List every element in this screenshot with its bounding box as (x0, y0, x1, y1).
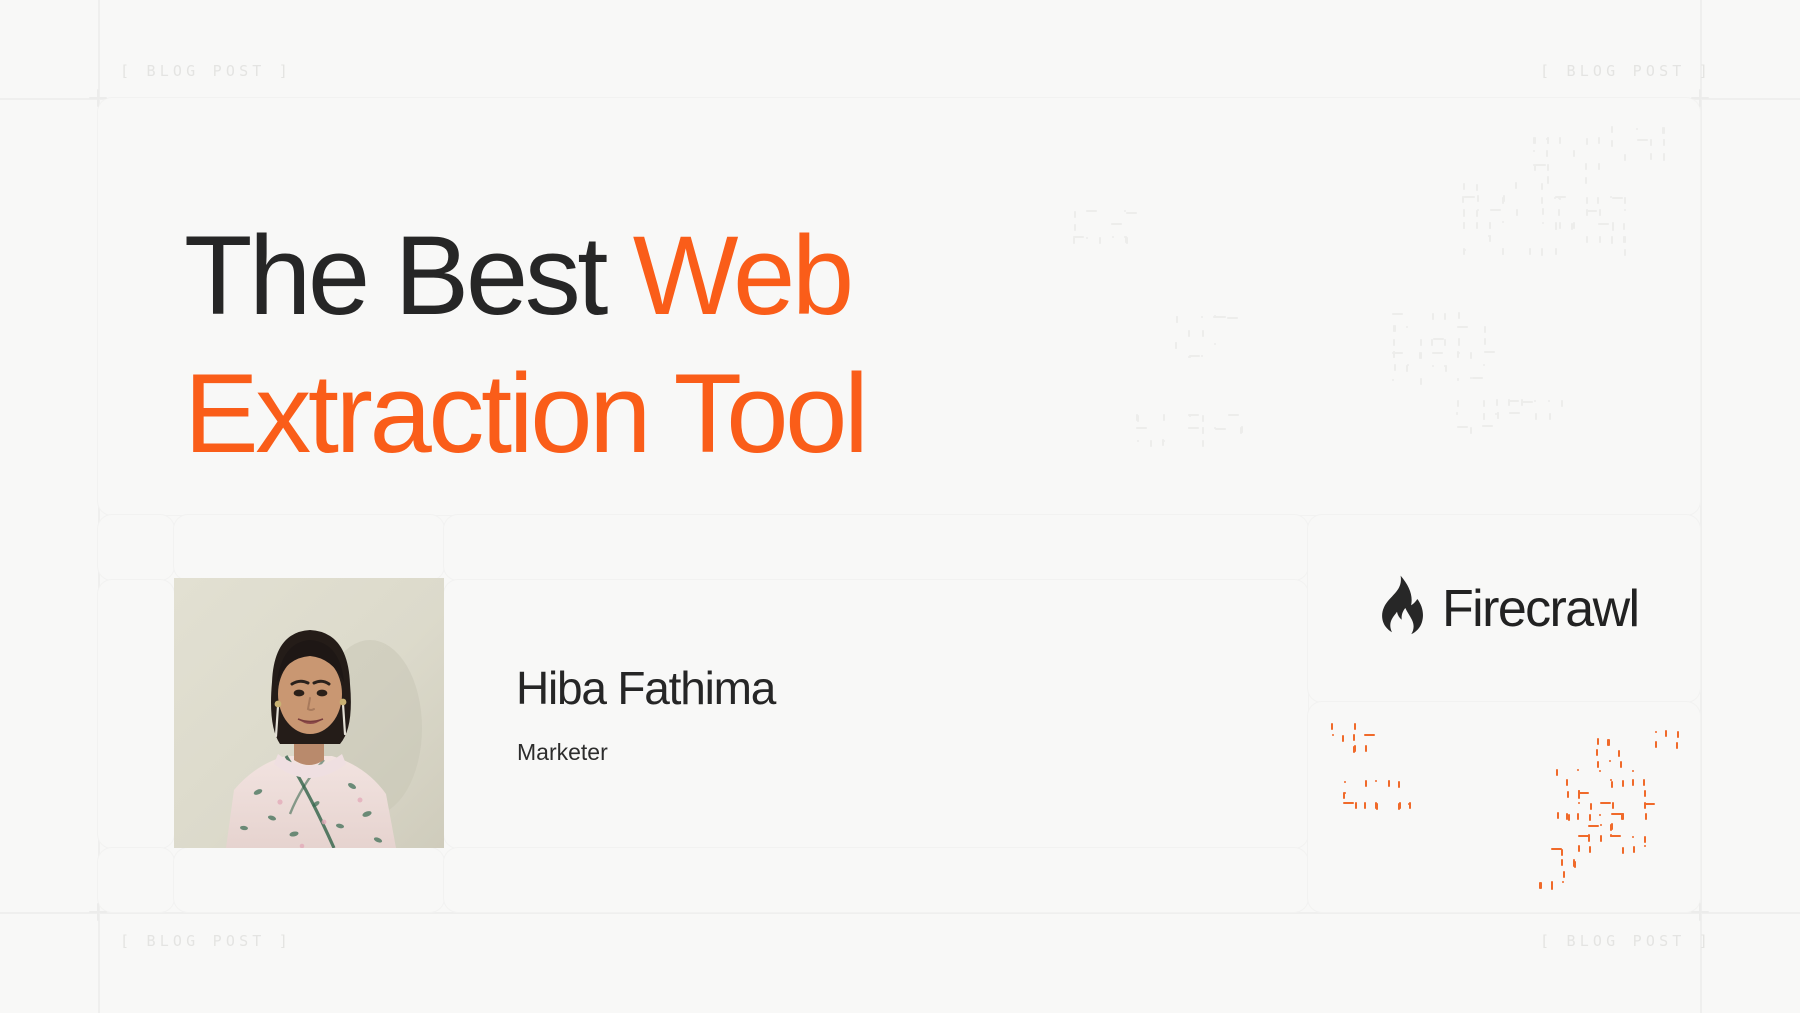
page-title-line-1: The Best Web (184, 207, 1184, 345)
author-name: Hiba Fathima (516, 660, 775, 716)
spacer-cell (98, 580, 174, 848)
page-title: The Best Web Extraction Tool (184, 207, 1184, 483)
eyebrow-label-bottom-right: [ BLOG POST ] (1540, 932, 1712, 950)
author-role: Marketer (517, 737, 608, 767)
author-bottom-cell (444, 848, 1308, 912)
brand-decor-cell (1308, 702, 1700, 912)
avatar (174, 578, 444, 848)
brand-name: Firecrawl (1442, 580, 1639, 638)
grid-line-vertical (1700, 0, 1702, 1013)
page-title-part-plain: The Best (184, 213, 633, 338)
blog-post-hero-banner: [ BLOG POST ] [ BLOG POST ] [ BLOG POST … (0, 0, 1800, 1013)
page-title-line-2: Extraction Tool (184, 345, 1184, 483)
flame-icon (1372, 575, 1424, 642)
photo-top-cell (174, 515, 444, 580)
photo-bottom-cell (174, 848, 444, 912)
spacer-cell (98, 515, 174, 580)
eyebrow-label-top-right: [ BLOG POST ] (1540, 62, 1712, 80)
author-portrait-image (174, 578, 444, 848)
page-title-part-accent: Web (633, 213, 851, 338)
author-top-cell (444, 515, 1308, 580)
eyebrow-label-bottom-left: [ BLOG POST ] (120, 932, 292, 950)
brand-logo: Firecrawl (1372, 575, 1639, 642)
spacer-cell (98, 848, 174, 912)
eyebrow-label-top-left: [ BLOG POST ] (120, 62, 292, 80)
grid-line-horizontal (0, 912, 1800, 914)
